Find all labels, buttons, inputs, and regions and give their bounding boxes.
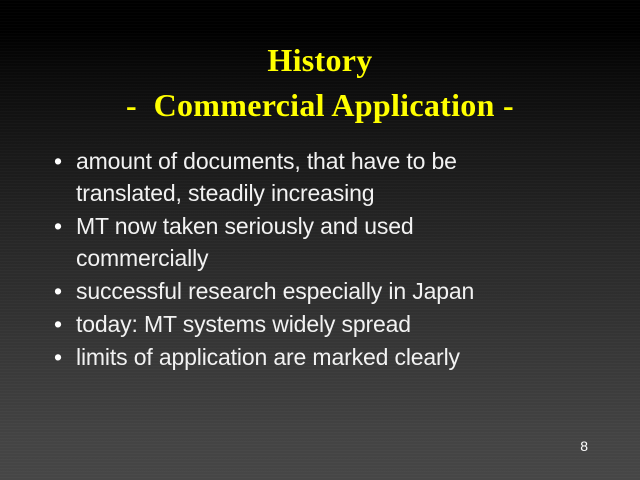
slide-bullet-list: • amount of documents, that have to be t… [50, 145, 570, 374]
bullet-point-icon: • [50, 341, 76, 373]
list-item: • MT now taken seriously and used commer… [50, 210, 570, 274]
slide-title-line-2: - Commercial Application - [0, 83, 640, 128]
bullet-item-text: limits of application are marked clearly [76, 341, 570, 373]
bullet-point-icon: • [50, 210, 76, 242]
bullet-point-icon: • [50, 275, 76, 307]
page-number: 8 [580, 438, 588, 454]
bullet-item-text: successful research especially in Japan [76, 275, 570, 307]
bullet-item-text: MT now taken seriously and used commerci… [76, 210, 570, 274]
list-item: • limits of application are marked clear… [50, 341, 570, 373]
list-item: • today: MT systems widely spread [50, 308, 570, 340]
slide-title: History - Commercial Application - [0, 38, 640, 128]
bullet-item-text: today: MT systems widely spread [76, 308, 570, 340]
presentation-slide: History - Commercial Application - • amo… [0, 0, 640, 480]
bullet-point-icon: • [50, 145, 76, 177]
list-item: • successful research especially in Japa… [50, 275, 570, 307]
slide-title-line-1: History [0, 38, 640, 83]
bullet-item-text: amount of documents, that have to be tra… [76, 145, 570, 209]
list-item: • amount of documents, that have to be t… [50, 145, 570, 209]
bullet-point-icon: • [50, 308, 76, 340]
